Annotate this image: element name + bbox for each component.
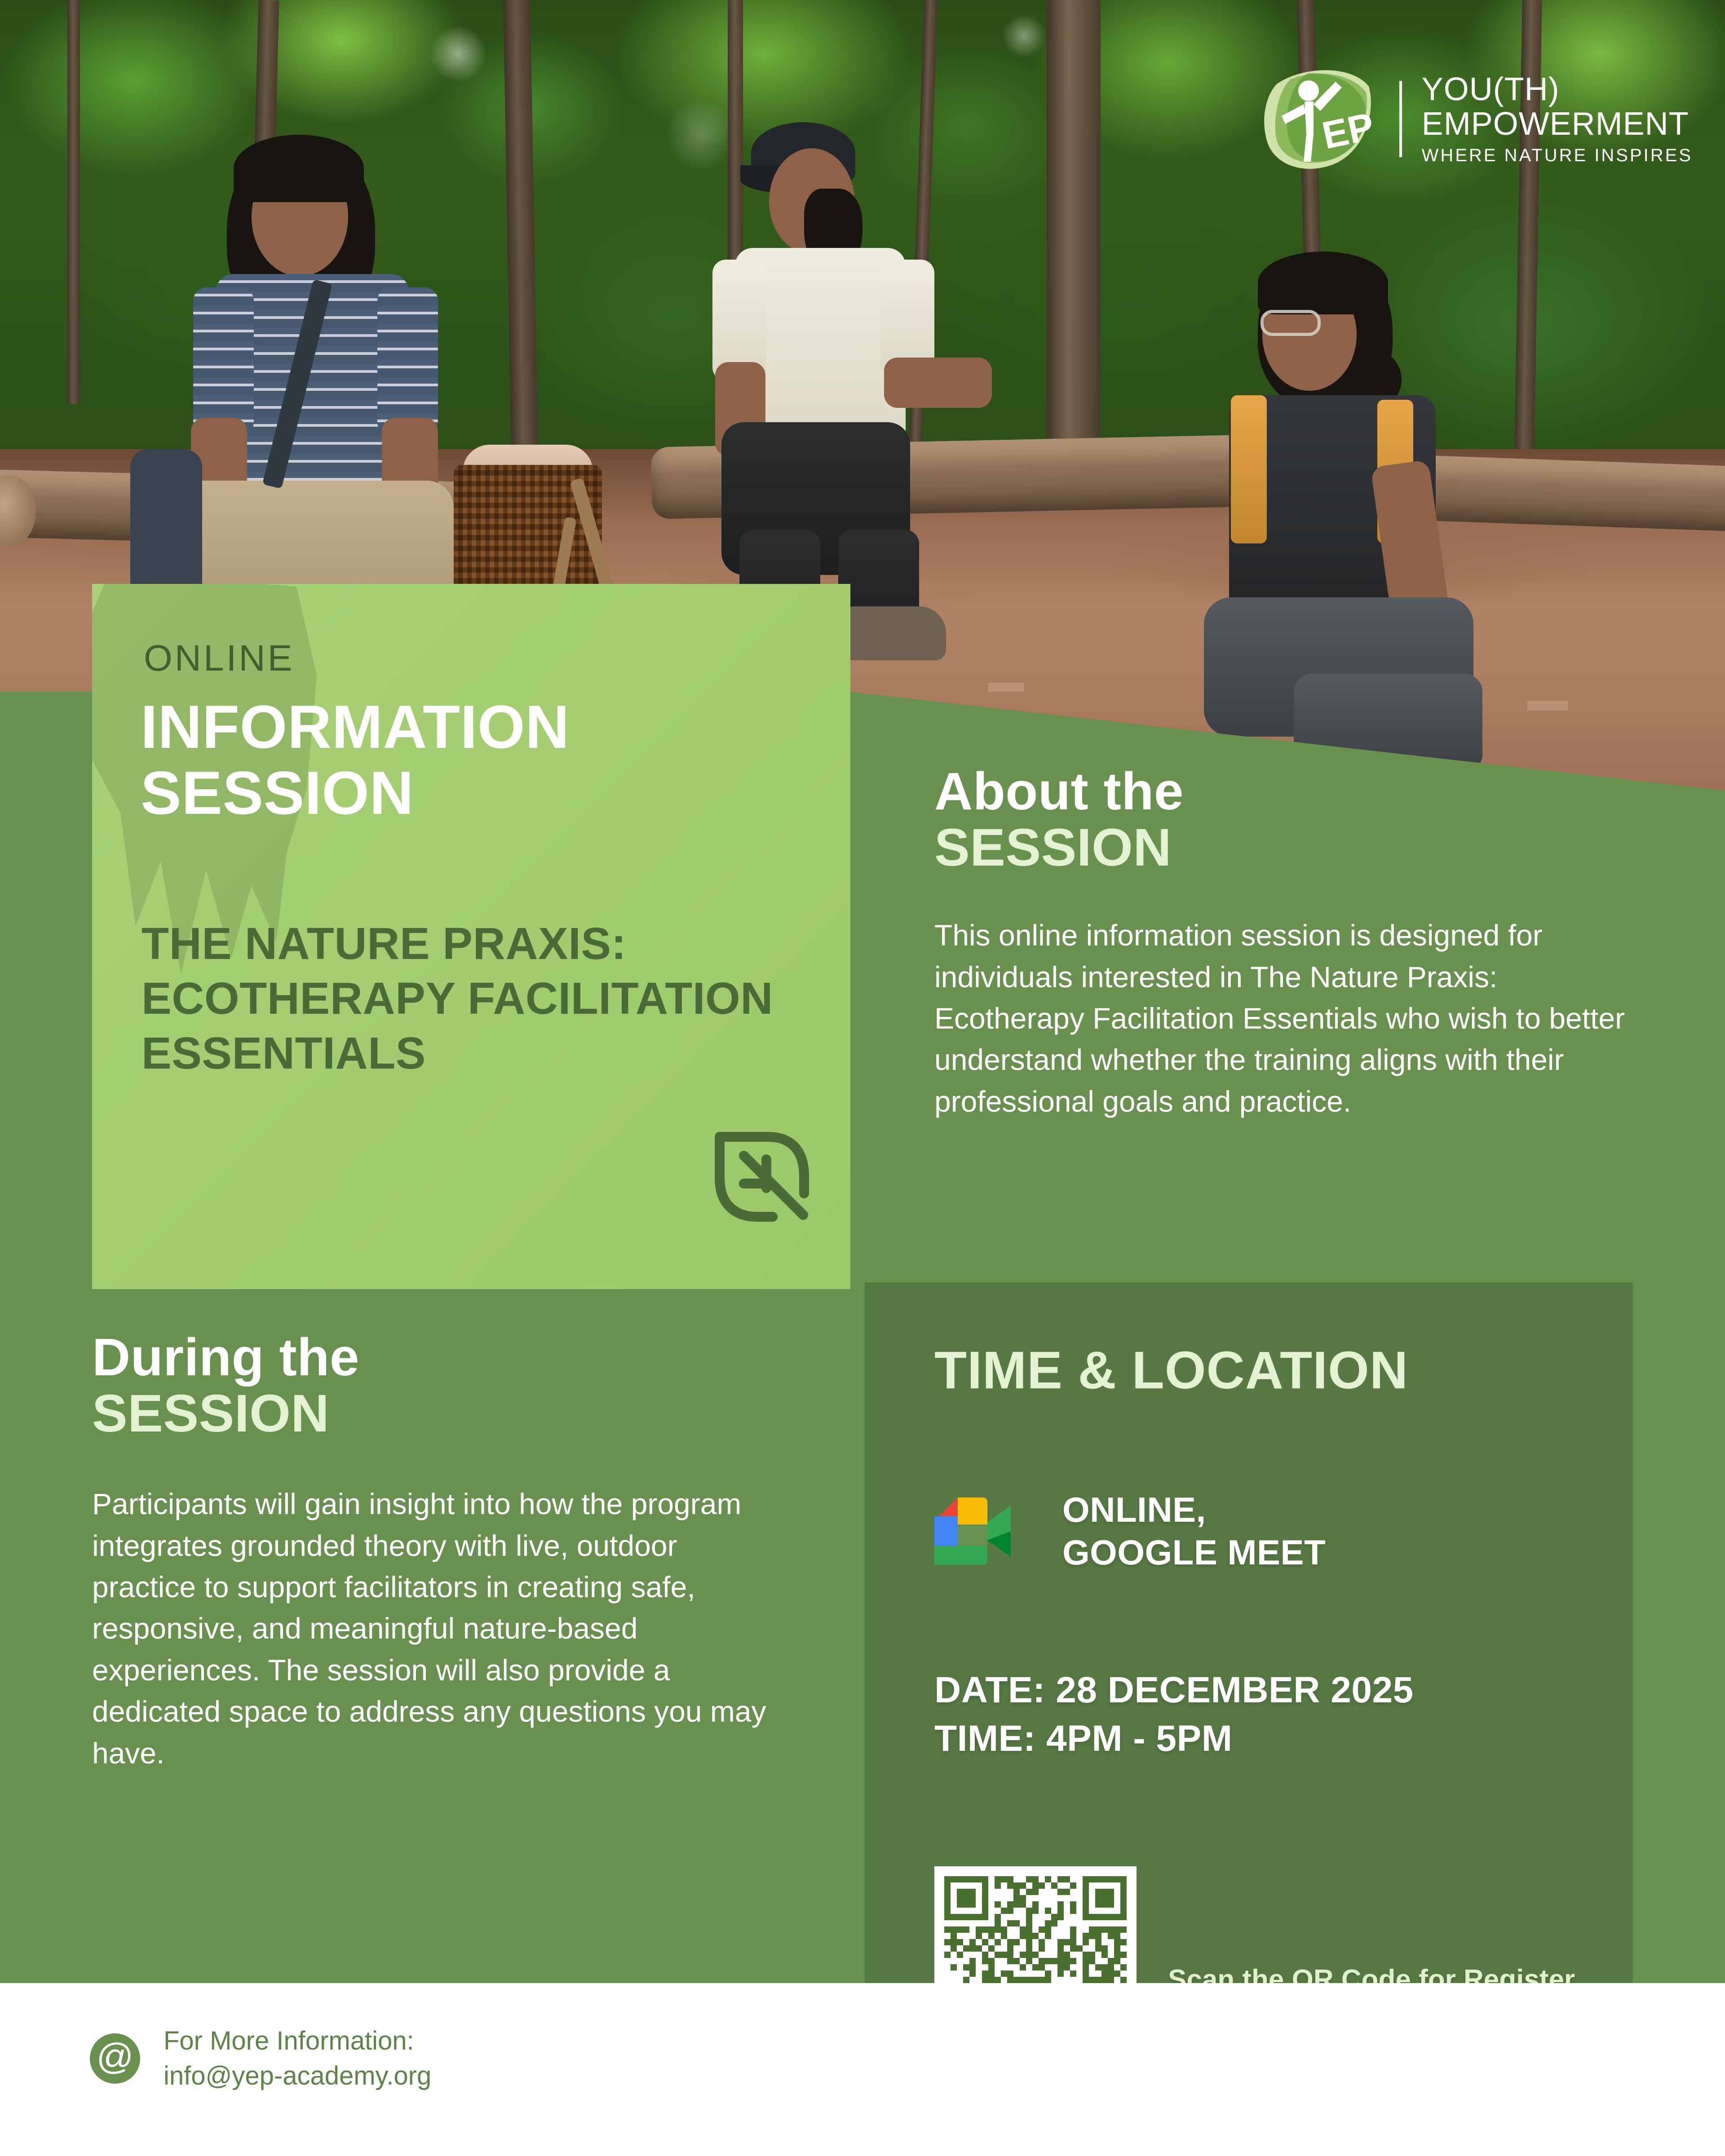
footer: @ For More Information: info@yep-academy… xyxy=(0,1983,1725,2156)
during-heading-line1: During the xyxy=(92,1330,793,1386)
logo-divider xyxy=(1399,81,1402,157)
page-title-line1: INFORMATION xyxy=(141,694,814,760)
page-title-line2: SESSION xyxy=(141,760,814,826)
time-line: TIME: 4PM - 5PM xyxy=(934,1714,1617,1763)
contact-line2[interactable]: info@yep-academy.org xyxy=(164,2059,431,2094)
contact-line1: For More Information: xyxy=(164,2023,431,2059)
about-heading: About the SESSION xyxy=(934,764,1662,876)
about-heading-line2: SESSION xyxy=(934,820,1662,876)
during-body-text: Participants will gain insight into how … xyxy=(92,1483,784,1774)
time-location-panel: TIME & LOCATION ONLINE, GOOGLE MEET DA xyxy=(934,1343,1617,1763)
about-session-panel: About the SESSION This online informatio… xyxy=(934,764,1662,1122)
brand-name-line1: YOU(TH) xyxy=(1422,72,1693,106)
yep-leaf-logo-icon: EP xyxy=(1258,63,1380,175)
leaf-icon xyxy=(701,1121,822,1242)
google-meet-icon xyxy=(934,1498,1013,1565)
about-body-text: This online information session is desig… xyxy=(934,915,1653,1122)
course-subtitle: THE NATURE PRAXIS: ECOTHERAPY FACILITATI… xyxy=(142,916,824,1081)
eyebrow-label: ONLINE xyxy=(144,640,294,677)
during-heading-line2: SESSION xyxy=(92,1386,793,1442)
date-line: DATE: 28 DECEMBER 2025 xyxy=(934,1666,1617,1714)
contact-text: For More Information: info@yep-academy.o… xyxy=(164,2023,431,2093)
datetime-block: DATE: 28 DECEMBER 2025 TIME: 4PM - 5PM xyxy=(934,1666,1617,1763)
about-heading-line1: About the xyxy=(934,764,1662,820)
at-sign-icon: @ xyxy=(90,2033,140,2084)
time-location-heading: TIME & LOCATION xyxy=(934,1343,1617,1399)
platform-label: ONLINE, GOOGLE MEET xyxy=(1062,1489,1326,1574)
poster-root: EP YOU(TH) EMPOWERMENT WHERE NATURE INSP… xyxy=(0,0,1725,2156)
platform-line1: ONLINE, xyxy=(1062,1489,1326,1531)
during-heading: During the SESSION xyxy=(92,1330,793,1442)
contact-row: @ For More Information: info@yep-academy… xyxy=(90,2023,431,2093)
page-title: INFORMATION SESSION xyxy=(141,694,814,826)
platform-line2: GOOGLE MEET xyxy=(1062,1531,1326,1574)
brand-name-line2: EMPOWERMENT xyxy=(1422,107,1693,141)
brand-tagline: WHERE NATURE INSPIRES xyxy=(1422,146,1693,166)
platform-row: ONLINE, GOOGLE MEET xyxy=(934,1489,1617,1574)
during-session-panel: During the SESSION Participants will gai… xyxy=(92,1330,793,1774)
brand-logo: EP YOU(TH) EMPOWERMENT WHERE NATURE INSP… xyxy=(1258,63,1693,175)
